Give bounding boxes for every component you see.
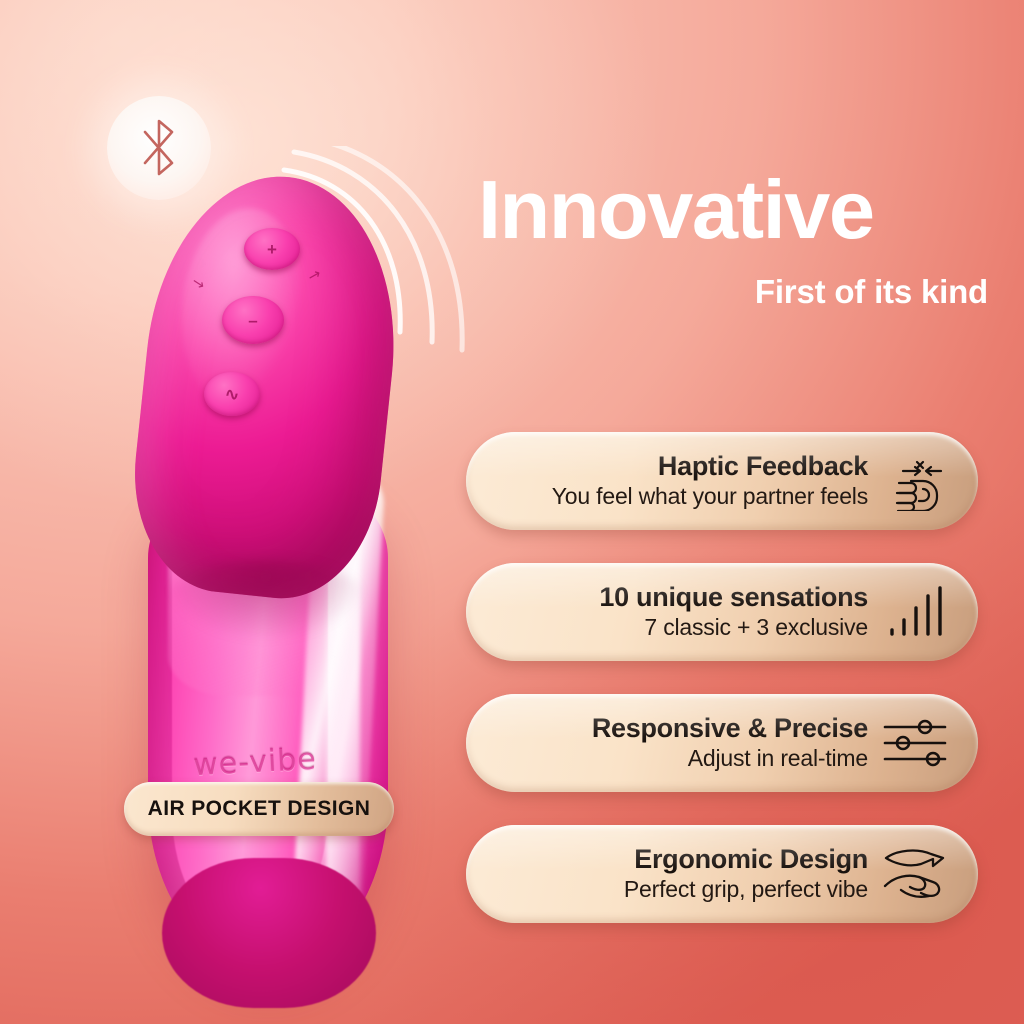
feature-text-group: Haptic Feedback You feel what your partn…: [500, 451, 880, 510]
page-title: Innovative: [478, 168, 994, 251]
decrease-button[interactable]: –: [222, 296, 284, 344]
air-pocket-label: AIR POCKET DESIGN: [148, 797, 371, 821]
air-pocket-callout: AIR POCKET DESIGN: [124, 782, 394, 836]
increase-button[interactable]: +: [244, 228, 300, 270]
feature-pill-haptic-feedback[interactable]: Haptic Feedback You feel what your partn…: [466, 432, 978, 530]
device-tip: [162, 858, 376, 1008]
feature-list: Haptic Feedback You feel what your partn…: [466, 432, 978, 956]
feature-pill-responsive-precise[interactable]: Responsive & Precise Adjust in real-time: [466, 694, 978, 792]
increase-button-glyph: +: [244, 228, 300, 270]
power-button[interactable]: ∿: [204, 372, 260, 416]
fist-vibration-icon: [880, 448, 952, 514]
feature-subtitle: You feel what your partner feels: [552, 483, 868, 511]
power-button-glyph: ∿: [204, 372, 260, 416]
hands-cradle-icon: [880, 841, 952, 907]
feature-subtitle: 7 classic + 3 exclusive: [644, 614, 868, 642]
feature-text-group: 10 unique sensations 7 classic + 3 exclu…: [500, 582, 880, 641]
feature-pill-ergonomic-design[interactable]: Ergonomic Design Perfect grip, perfect v…: [466, 825, 978, 923]
headline-block: Innovative First of its kind: [478, 168, 994, 311]
feature-title: Ergonomic Design: [634, 844, 868, 876]
feature-text-group: Responsive & Precise Adjust in real-time: [500, 713, 880, 772]
feature-title: Responsive & Precise: [592, 713, 868, 745]
feature-subtitle: Adjust in real-time: [688, 745, 868, 773]
sliders-icon: [880, 710, 952, 776]
device-neck-shadow: [166, 560, 366, 640]
feature-text-group: Ergonomic Design Perfect grip, perfect v…: [500, 844, 880, 903]
feature-pill-unique-sensations[interactable]: 10 unique sensations 7 classic + 3 exclu…: [466, 563, 978, 661]
device-body: + – ∿ ↘ ↗ we-vibe: [126, 168, 398, 968]
page-subtitle: First of its kind: [478, 273, 994, 311]
feature-subtitle: Perfect grip, perfect vibe: [624, 876, 868, 904]
feature-title: Haptic Feedback: [658, 451, 868, 483]
feature-title: 10 unique sensations: [599, 582, 868, 614]
signal-bars-icon: [880, 579, 952, 645]
product-image: + – ∿ ↘ ↗ we-vibe AIR POCKET DESIGN: [78, 146, 478, 1006]
poster-canvas: + – ∿ ↘ ↗ we-vibe AIR POCKET DESIGN Inno…: [0, 0, 1024, 1024]
decrease-button-glyph: –: [222, 296, 284, 344]
